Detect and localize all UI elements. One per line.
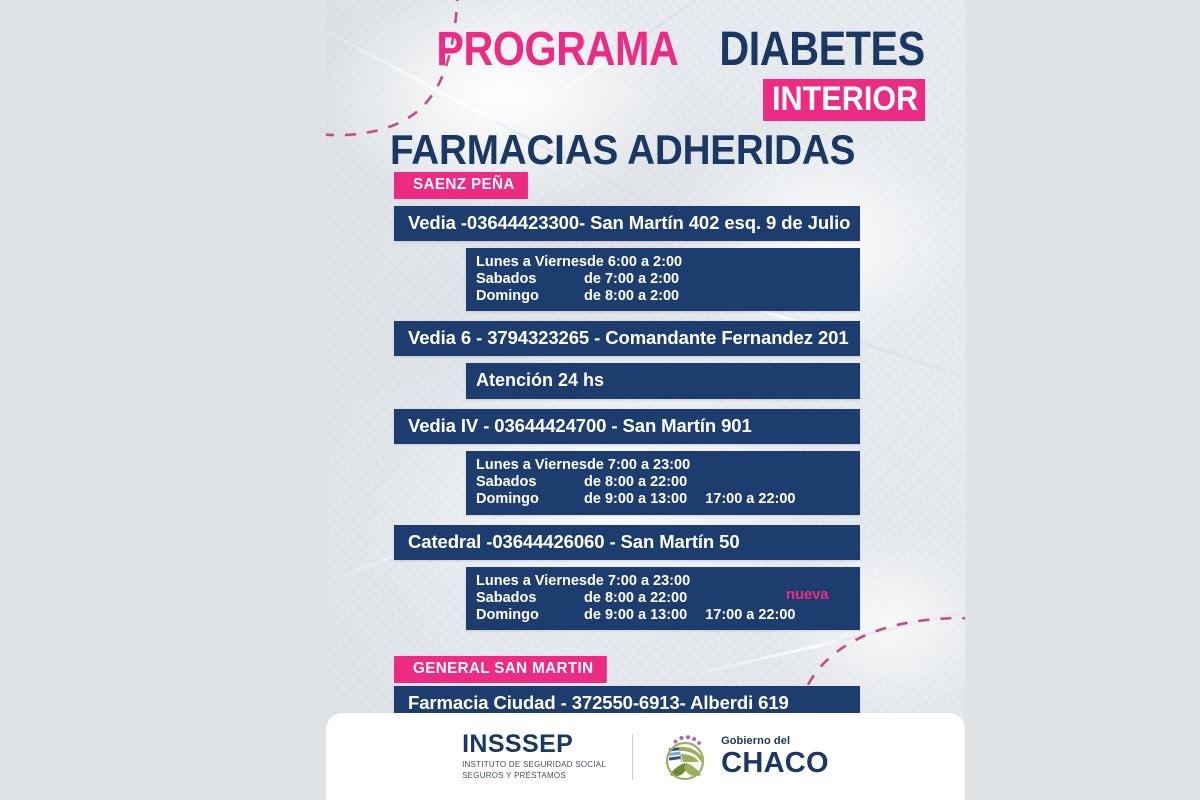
insssep-logo: INSSSEP INSTITUTO DE SEGURIDAD SOCIAL SE… (462, 732, 632, 782)
city-tag-general-san-martin: GENERAL SAN MARTIN (394, 656, 607, 683)
pharmacy-hours-single: Atención 24 hs (466, 363, 860, 399)
pharmacy-name-bar: Vedia -03644423300- San Martín 402 esq. … (394, 206, 860, 241)
chaco-name-label: CHACO (721, 749, 829, 778)
hours-time: de 9:00 a 13:00 (584, 607, 687, 623)
hours-day: Sabados (476, 590, 584, 607)
pharmacy-name-bar: Catedral -03644426060 - San Martín 50 (394, 525, 860, 560)
pharmacy-name-bar: Vedia 6 - 3794323265 - Comandante Fernan… (394, 321, 860, 356)
spacer (326, 311, 965, 321)
hours-time: de 9:00 a 13:00 (584, 491, 687, 507)
hours-time: de 7:00 a 2:00 (584, 271, 679, 287)
hours-time: de 8:00 a 22:00 (584, 590, 687, 606)
hours-time: de 8:00 a 2:00 (584, 288, 679, 304)
city-tag-saenz-pena: SAENZ PEÑA (394, 172, 528, 199)
pharmacy-hours-bar: Lunes a Viernesde 7:00 a 23:00 Sabadosde… (466, 451, 860, 514)
nueva-stamp-label: nueva (786, 586, 828, 603)
hours-line: Lunes a Viernesde 6:00 a 2:00 (476, 254, 850, 271)
hours-time-extra: 17:00 a 22:00 (705, 491, 795, 507)
hours-day: Domingo (476, 607, 584, 624)
hours-time: de 6:00 a 2:00 (587, 254, 682, 270)
footer-inner: INSSSEP INSTITUTO DE SEGURIDAD SOCIAL SE… (326, 713, 965, 800)
chaco-emblem-icon (659, 731, 711, 783)
pharmacy-hours-bar: Lunes a Viernesde 6:00 a 2:00 Sabadosde … (466, 248, 860, 311)
spacer (326, 399, 965, 409)
hours-line: Domingode 9:00 a 13:0017:00 a 22:00 (476, 607, 850, 624)
poster-canvas: PROGRAMADIABETES INTERIOR FARMACIAS ADHE… (0, 0, 1200, 800)
headline-word-diabetes: DIABETES (720, 26, 925, 74)
hours-line: Domingode 9:00 a 13:0017:00 a 22:00 (476, 491, 850, 508)
hours-day: Sabados (476, 474, 584, 491)
hours-day: Lunes a Viernes (476, 573, 587, 590)
hours-day: Domingo (476, 288, 584, 305)
footer-logo-bar: INSSSEP INSTITUTO DE SEGURIDAD SOCIAL SE… (326, 713, 965, 800)
headline-word-programa: PROGRAMA (436, 26, 678, 74)
hours-time-extra: 17:00 a 22:00 (705, 607, 795, 623)
hours-day: Lunes a Viernes (476, 254, 587, 271)
chaco-wordmark: Gobierno del CHACO (721, 736, 829, 778)
hours-day: Sabados (476, 271, 584, 288)
spacer (326, 199, 965, 206)
headline-word-interior: INTERIOR (763, 79, 925, 121)
pharmacy-list: SAENZ PEÑA Vedia -03644423300- San Martí… (326, 172, 965, 721)
poster-panel: PROGRAMADIABETES INTERIOR FARMACIAS ADHE… (326, 0, 965, 800)
hours-time: de 7:00 a 23:00 (587, 573, 690, 589)
hours-line: Sabadosde 8:00 a 22:00 (476, 474, 850, 491)
spacer (326, 515, 965, 525)
hours-day: Lunes a Viernes (476, 457, 587, 474)
spacer (326, 630, 965, 656)
hours-line: Domingode 8:00 a 2:00 (476, 288, 850, 305)
spacer (326, 241, 965, 248)
hours-time: de 8:00 a 22:00 (584, 474, 687, 490)
insssep-wordmark: INSSSEP (462, 732, 606, 757)
gobierno-chaco-logo: Gobierno del CHACO (633, 731, 829, 783)
insssep-subtitle-line1: INSTITUTO DE SEGURIDAD SOCIAL (462, 760, 606, 771)
chaco-gobierno-label: Gobierno del (721, 736, 829, 747)
hours-day: Domingo (476, 491, 584, 508)
hours-time: de 7:00 a 23:00 (587, 457, 690, 473)
headline-block: PROGRAMADIABETES INTERIOR (326, 26, 925, 121)
headline-row-primary: PROGRAMADIABETES (326, 26, 925, 74)
headline-row-secondary: INTERIOR (326, 79, 925, 121)
spacer (326, 356, 965, 363)
hours-line: Lunes a Viernesde 7:00 a 23:00 (476, 457, 850, 474)
hours-line: Sabadosde 7:00 a 2:00 (476, 271, 850, 288)
spacer (326, 560, 965, 567)
page-title: FARMACIAS ADHERIDAS (390, 126, 855, 174)
insssep-subtitle-line2: SEGUROS Y PRÉSTAMOS (462, 771, 606, 782)
pharmacy-name-bar: Vedia IV - 03644424700 - San Martín 901 (394, 409, 860, 444)
spacer (326, 444, 965, 451)
